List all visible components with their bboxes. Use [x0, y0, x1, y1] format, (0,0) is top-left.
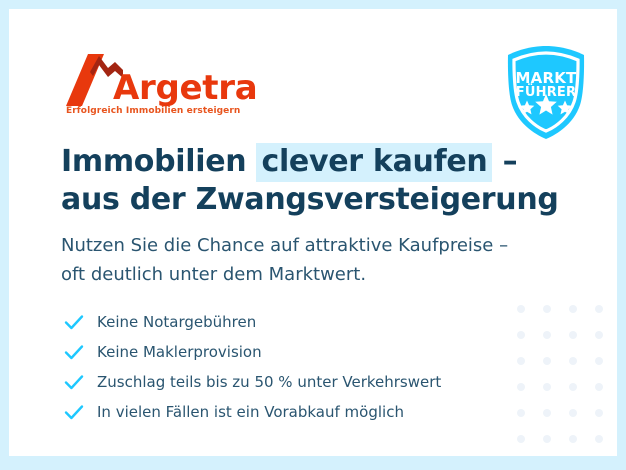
decorative-dot	[569, 357, 577, 365]
banner-card: Argetra Erfolgreich Immobilien ersteiger…	[9, 9, 617, 456]
page-title: Immobilien clever kaufen – aus der Zwang…	[61, 143, 581, 219]
argetra-logo[interactable]: Argetra Erfolgreich Immobilien ersteiger…	[66, 54, 266, 122]
check-icon	[63, 371, 85, 393]
headline-text-after: –	[492, 144, 517, 179]
decorative-dot	[569, 305, 577, 313]
headline-line-1: Immobilien clever kaufen –	[61, 143, 581, 181]
badge-line-2: FÜHRER	[496, 85, 596, 100]
decorative-dot	[569, 383, 577, 391]
check-icon	[63, 341, 85, 363]
decorative-dot	[543, 305, 551, 313]
list-item-label: Keine Maklerprovision	[97, 343, 262, 361]
decorative-dot	[543, 331, 551, 339]
decorative-dot	[517, 435, 525, 443]
headline-text-before: Immobilien	[61, 144, 256, 179]
decorative-dot	[595, 357, 603, 365]
list-item: Zuschlag teils bis zu 50 % unter Verkehr…	[63, 367, 533, 397]
market-leader-badge: MARKT FÜHRER	[496, 42, 596, 142]
promo-banner: Argetra Erfolgreich Immobilien ersteiger…	[0, 0, 626, 470]
decorative-dot	[595, 383, 603, 391]
benefit-list: Keine Notargebühren Keine Maklerprovisio…	[63, 307, 533, 427]
list-item-label: Zuschlag teils bis zu 50 % unter Verkehr…	[97, 373, 441, 391]
list-item-label: Keine Notargebühren	[97, 313, 256, 331]
decorative-dot	[543, 435, 551, 443]
headline-highlight: clever kaufen	[256, 143, 492, 182]
decorative-dot	[595, 409, 603, 417]
logo-tagline: Erfolgreich Immobilien ersteigern	[66, 106, 240, 116]
decorative-dot	[543, 409, 551, 417]
subheadline-line-2: oft deutlich unter dem Marktwert.	[61, 260, 581, 289]
decorative-dot	[543, 357, 551, 365]
decorative-dot	[595, 305, 603, 313]
check-icon	[63, 401, 85, 423]
decorative-dot	[569, 435, 577, 443]
list-item: Keine Maklerprovision	[63, 337, 533, 367]
logo-wordmark: Argetra	[113, 68, 257, 108]
list-item: In vielen Fällen ist ein Vorabkauf mögli…	[63, 397, 533, 427]
headline-line-2: aus der Zwangsversteigerung	[61, 181, 581, 219]
decorative-dot	[569, 331, 577, 339]
list-item: Keine Notargebühren	[63, 307, 533, 337]
check-icon	[63, 311, 85, 333]
decorative-dot	[595, 435, 603, 443]
decorative-dot	[569, 409, 577, 417]
list-item-label: In vielen Fällen ist ein Vorabkauf mögli…	[97, 403, 404, 421]
decorative-dot	[595, 331, 603, 339]
subheadline: Nutzen Sie die Chance auf attraktive Kau…	[61, 231, 581, 289]
decorative-dot	[543, 383, 551, 391]
subheadline-line-1: Nutzen Sie die Chance auf attraktive Kau…	[61, 231, 581, 260]
